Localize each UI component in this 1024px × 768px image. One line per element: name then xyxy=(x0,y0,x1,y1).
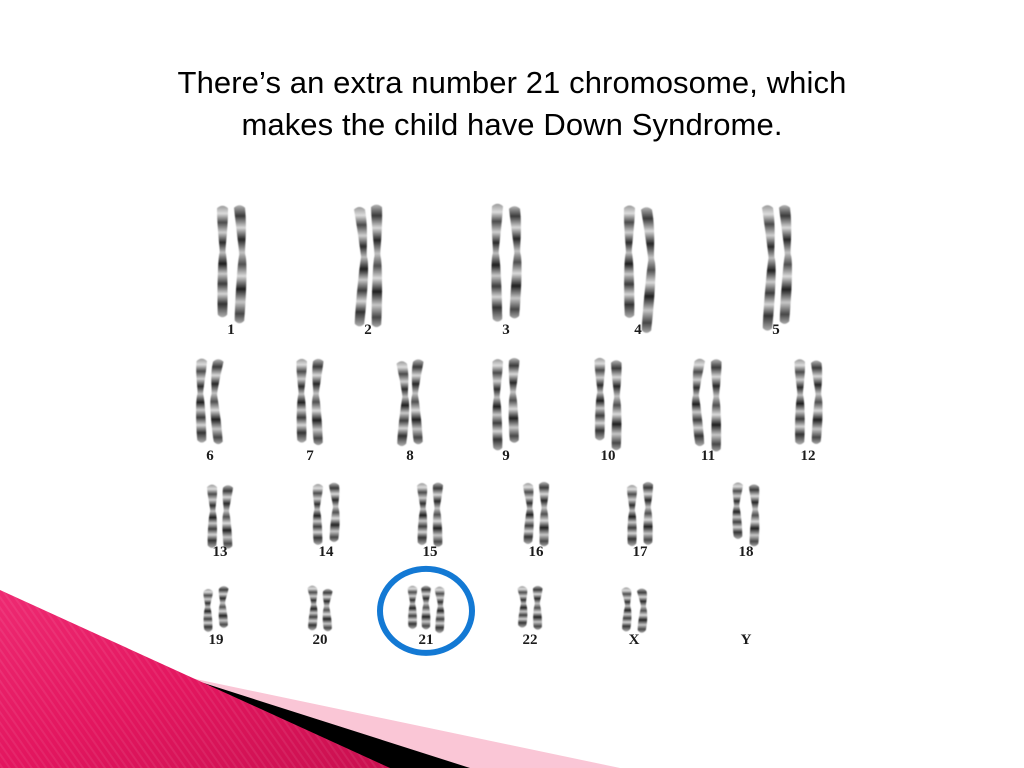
chromosome-label: 15 xyxy=(423,544,438,560)
chromosome-label: 7 xyxy=(306,448,314,464)
chromosome-label: 18 xyxy=(739,544,754,560)
chromosome-label: 9 xyxy=(502,448,510,464)
chromosome-label: 22 xyxy=(523,632,538,648)
chromosome-label: 8 xyxy=(406,448,414,464)
chromosome-label: Y xyxy=(741,632,752,648)
chromosome-label: 6 xyxy=(206,448,214,464)
chromosome-label: 12 xyxy=(801,448,816,464)
chromosome-label: 4 xyxy=(634,322,642,338)
slide-canvas: There’s an extra number 21 chromosome, w… xyxy=(0,0,1024,768)
chromosome-label: 5 xyxy=(772,322,780,338)
chromosome-label: 13 xyxy=(213,544,228,560)
chromosome-label: 1 xyxy=(227,322,235,338)
chromosome-label: X xyxy=(629,632,640,648)
title-line-2: makes the child have Down Syndrome. xyxy=(72,104,952,146)
chromosome-label: 19 xyxy=(209,632,224,648)
chromosome-label: 11 xyxy=(701,448,715,464)
chromosome-label: 16 xyxy=(529,544,545,560)
chromosome-pair xyxy=(408,586,445,633)
page-title: There’s an extra number 21 chromosome, w… xyxy=(72,62,952,146)
chromosome-label: 17 xyxy=(633,544,649,560)
chromosome-label: 2 xyxy=(364,322,372,338)
chromosome-label: 10 xyxy=(601,448,616,464)
karyotype-svg: 12345678910111213141516171819202122XY xyxy=(168,188,858,668)
chromosome-label: 21 xyxy=(419,632,434,648)
chromosome-label: 20 xyxy=(313,632,328,648)
chromosome-label: 3 xyxy=(502,322,510,338)
chromosome-label: 14 xyxy=(319,544,335,560)
karyotype-image: 12345678910111213141516171819202122XY xyxy=(168,188,858,668)
title-line-1: There’s an extra number 21 chromosome, w… xyxy=(72,62,952,104)
